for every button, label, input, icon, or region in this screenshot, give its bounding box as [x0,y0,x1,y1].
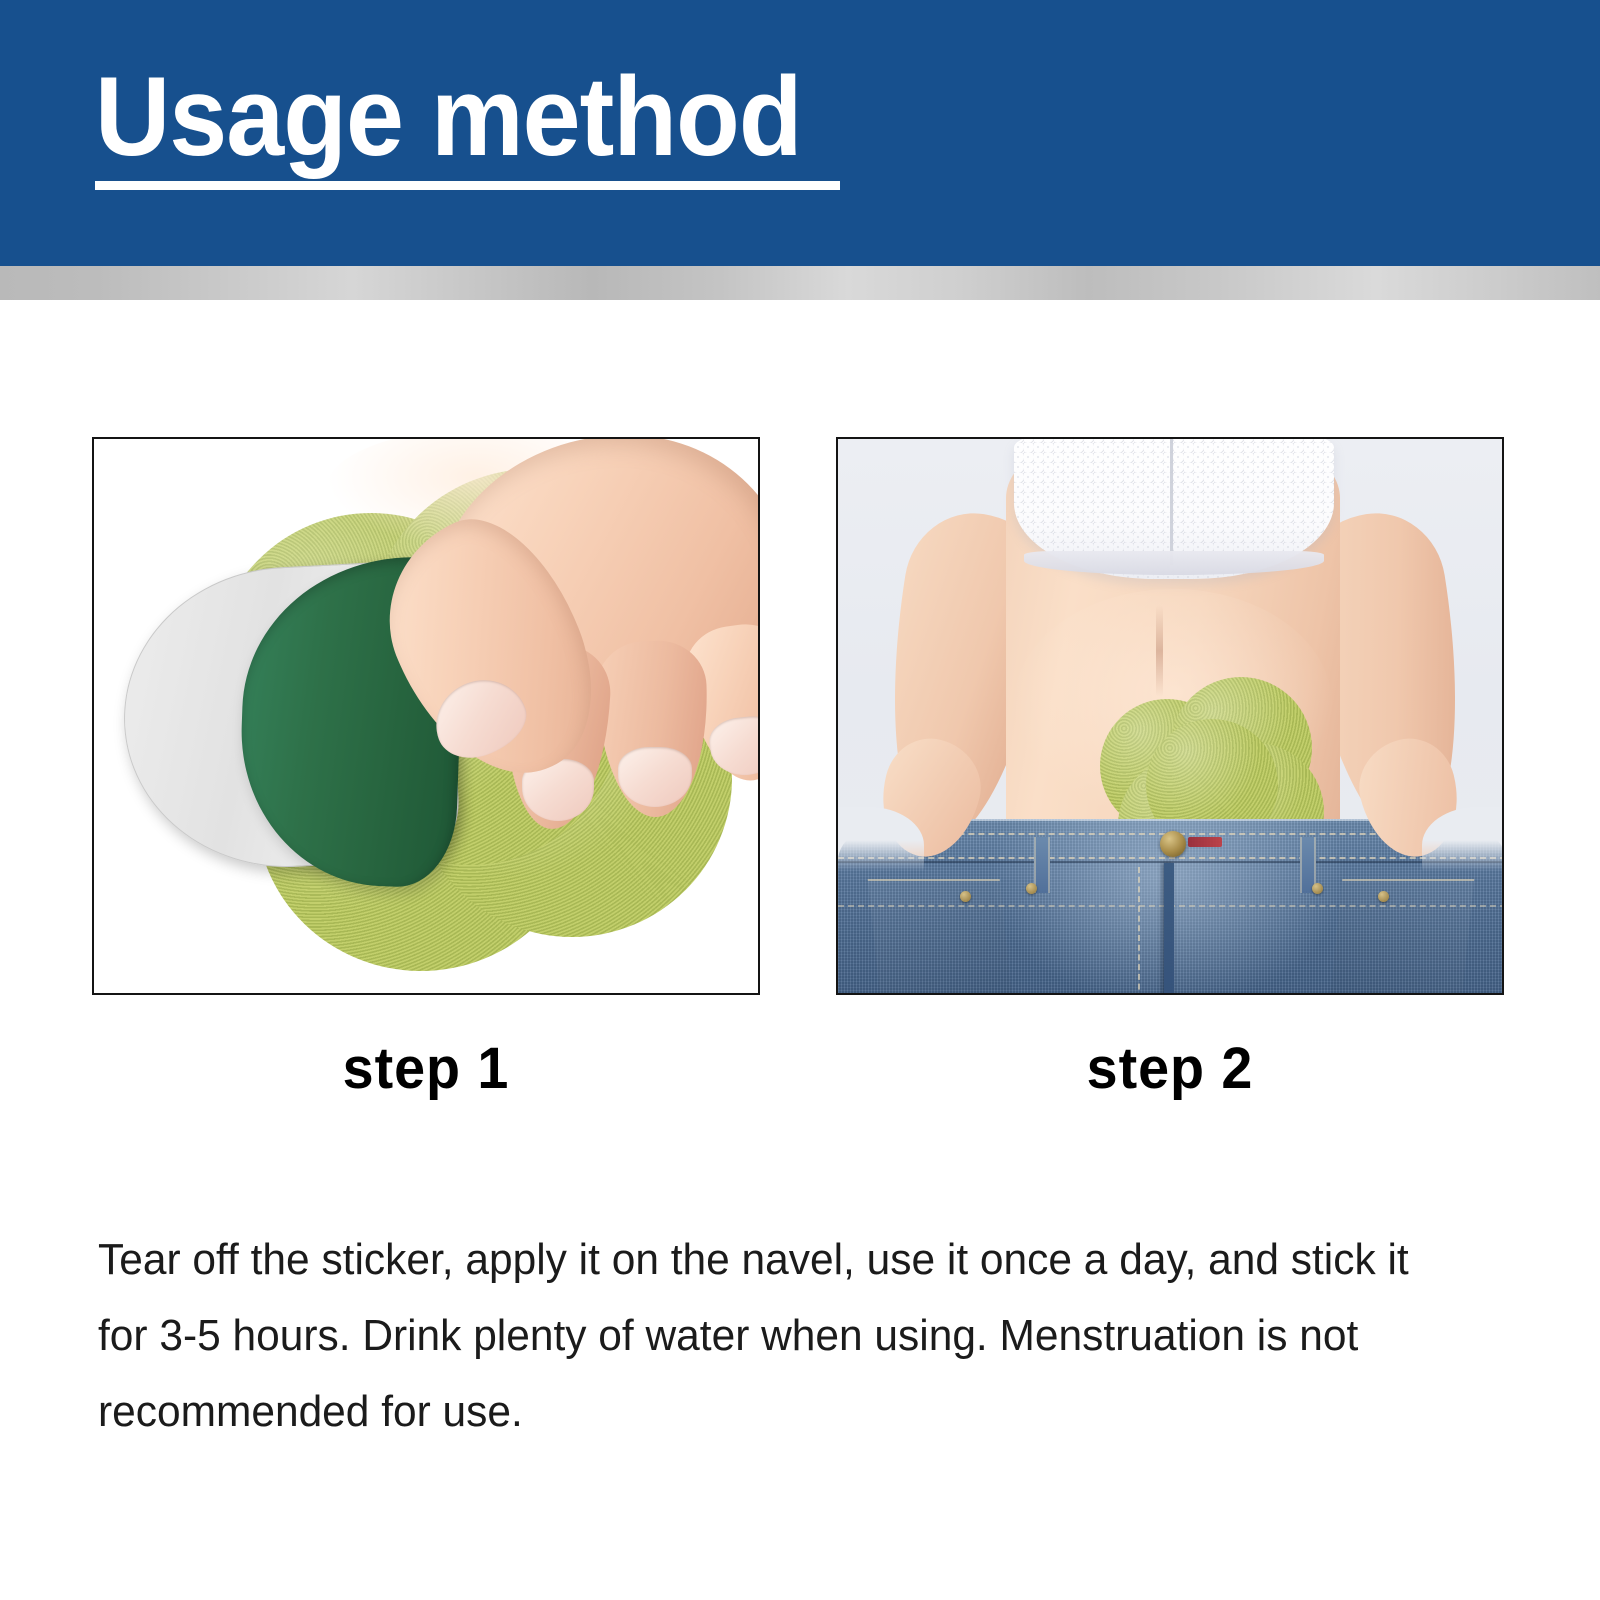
jeans-pocket [868,879,1013,993]
page-title: Usage method [95,58,802,176]
jeans-pocket [1330,879,1475,993]
jeans-fly [1164,863,1174,993]
waistband-stitch [838,857,1502,859]
pocket-rivet [960,891,971,902]
step-2-label: step 2 [849,1035,1490,1102]
silver-divider-bar [0,266,1600,300]
pocket-rivet [1026,883,1037,894]
jeans-button [1160,831,1186,857]
title-underline [95,181,840,190]
pocket-rivet [1378,891,1389,902]
patch-applied-on-navel-photo [838,439,1502,993]
instructions-paragraph: Tear off the sticker, apply it on the na… [98,1222,1444,1450]
step-1-image-panel [92,437,760,995]
sports-bra-seam [1170,439,1173,565]
pocket-rivet [1312,883,1323,894]
hand-graphic [326,437,760,899]
fly-stitch [1138,867,1140,993]
infographic-page: Usage method [0,0,1600,1600]
step-2-image-panel [836,437,1504,995]
brand-tag [1188,837,1222,847]
hand-peeling-sticker-backing-illustration [94,439,758,993]
belt-loop [1034,837,1050,893]
step-1-label: step 1 [105,1035,746,1102]
steps-section: step 1 step 2 [0,300,1600,1060]
header-banner: Usage method [0,0,1600,266]
